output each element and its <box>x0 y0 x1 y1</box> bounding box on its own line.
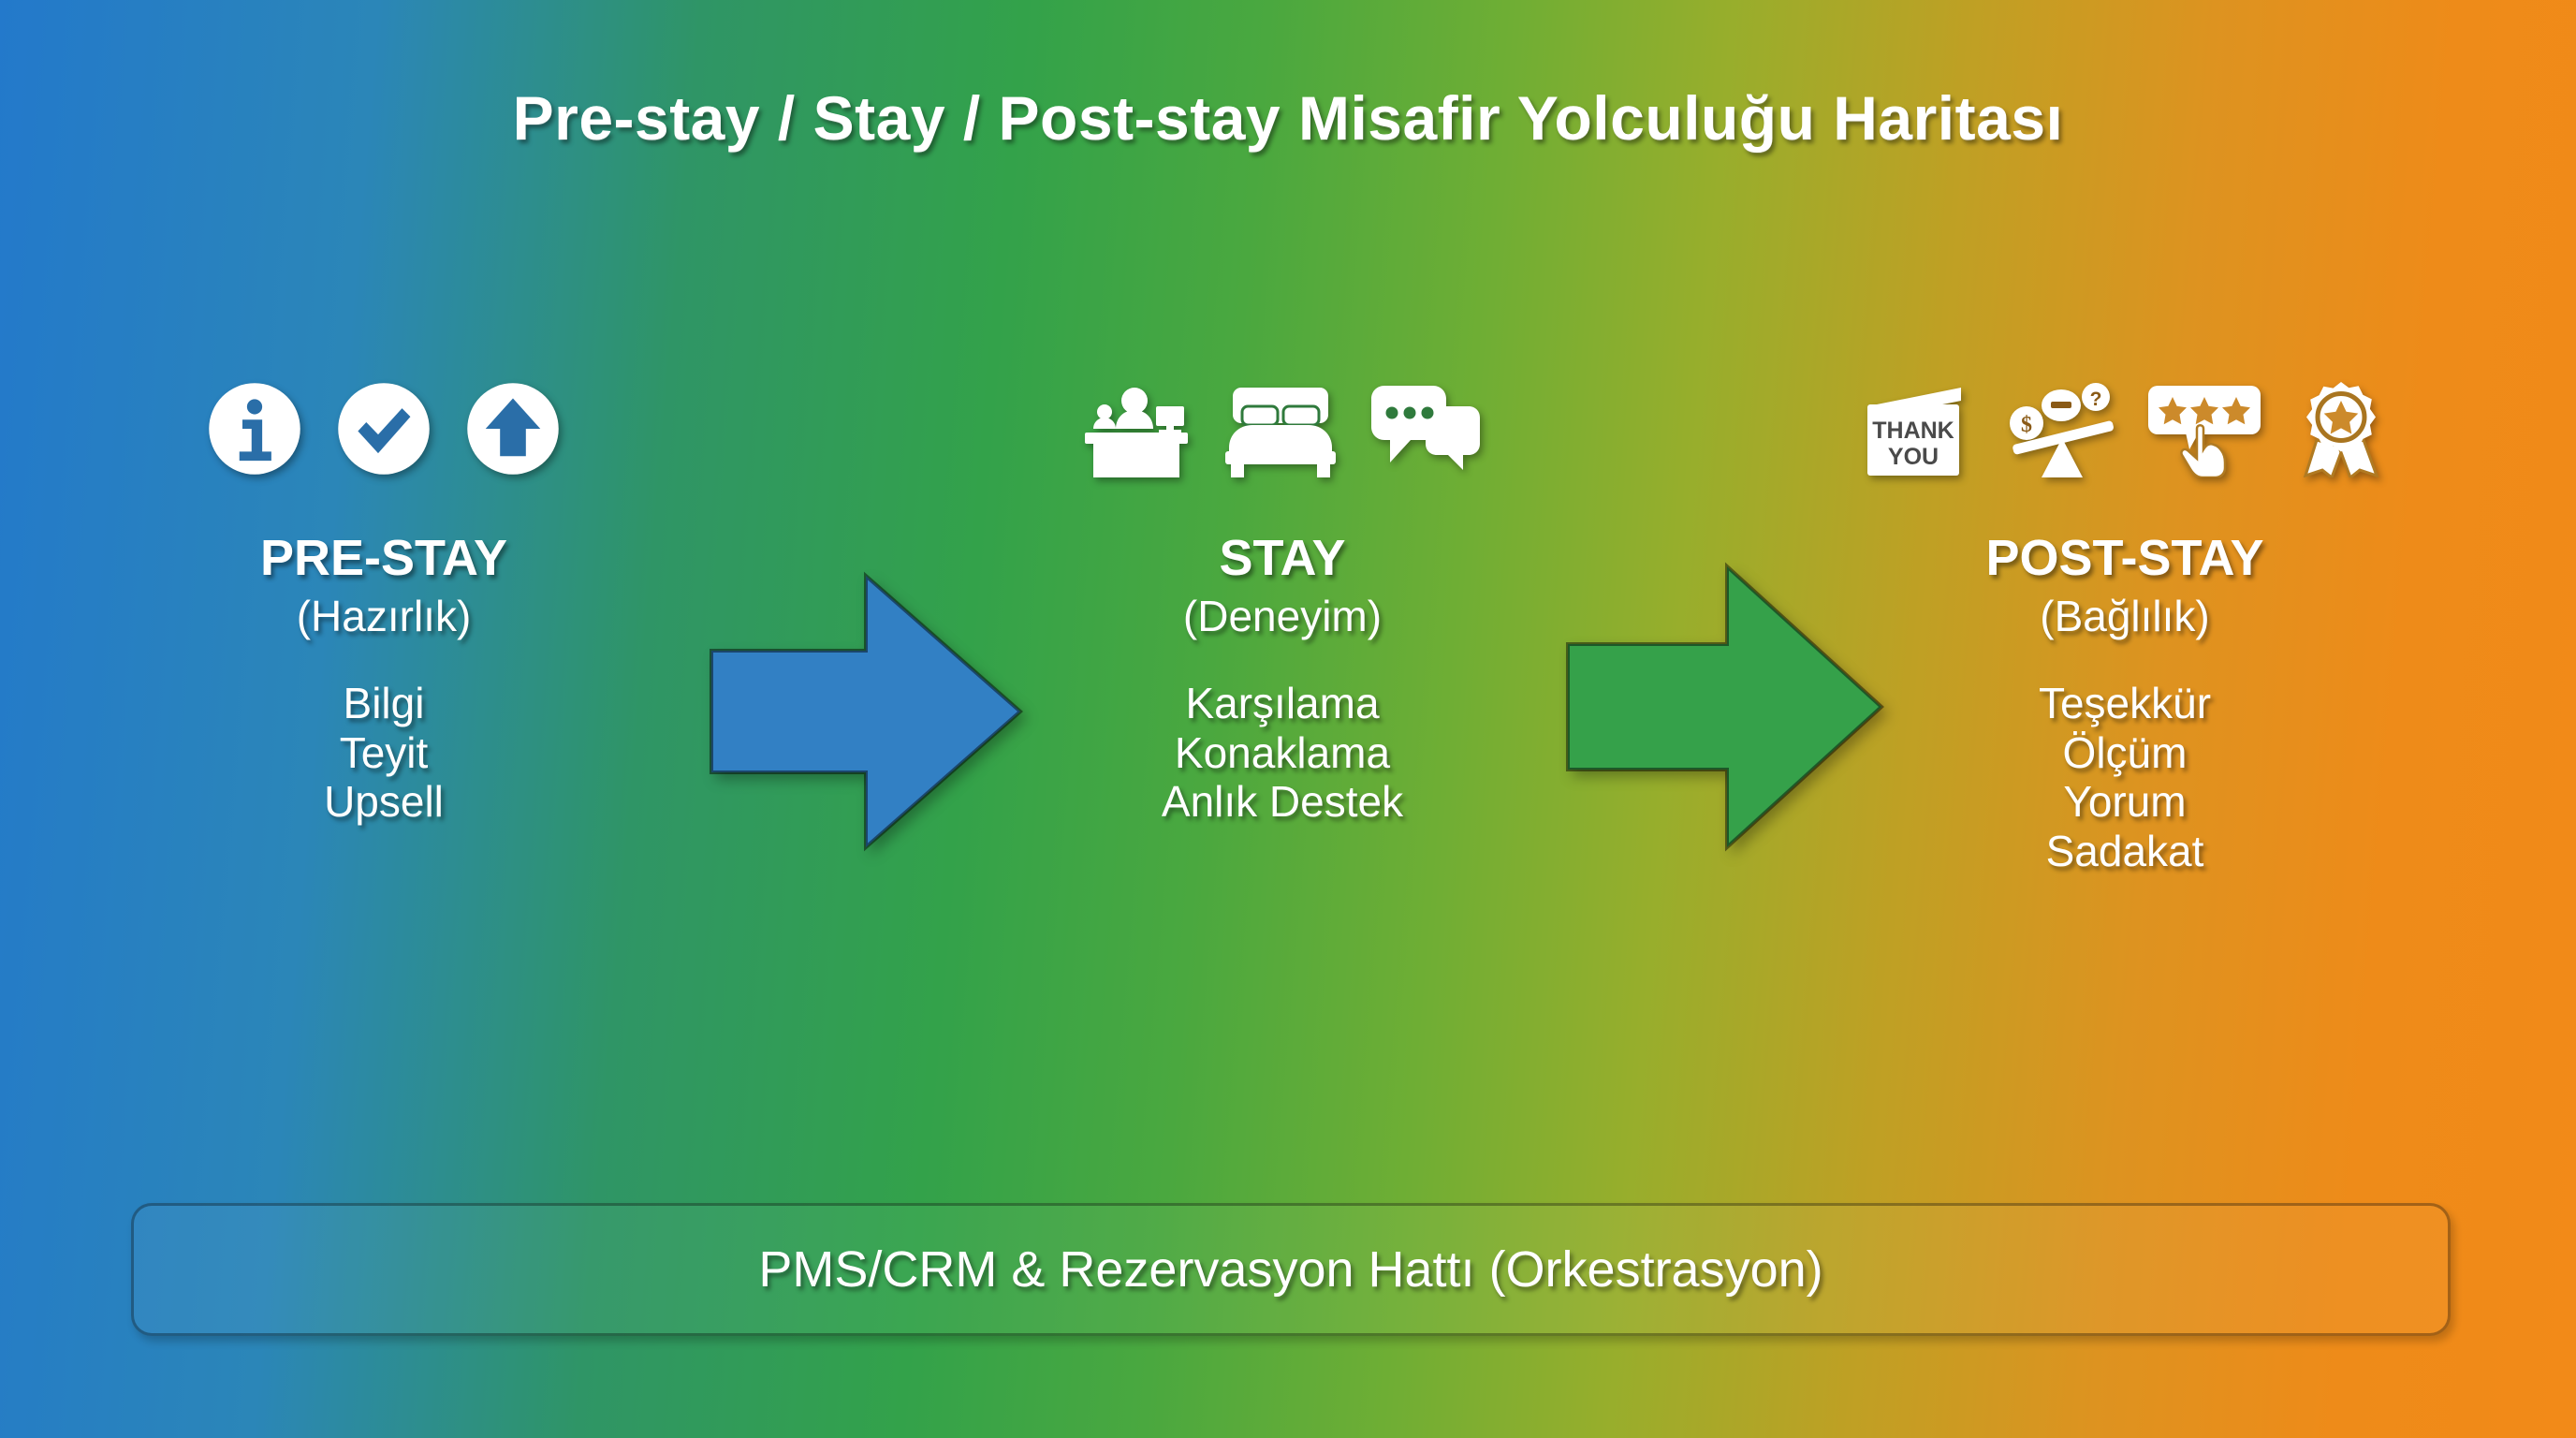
phase-subtitle-stay: (Deneyim) <box>1002 593 1563 640</box>
list-item: Teyit <box>112 728 655 777</box>
star-rating-click-icon <box>2144 380 2264 477</box>
check-circle-icon <box>335 380 432 477</box>
phase-title-post-stay: POST-STAY <box>1807 532 2443 585</box>
infographic-canvas: Pre-stay / Stay / Post-stay Misafir Yolc… <box>0 0 2576 1438</box>
award-badge-icon <box>2289 380 2393 477</box>
phase-list-stay: Karşılama Konaklama Anlık Destek <box>1002 679 1563 826</box>
list-item: Karşılama <box>1002 679 1563 727</box>
orchestration-band: PMS/CRM & Rezervasyon Hattı (Orkestrasyo… <box>131 1203 2451 1336</box>
phase-column-stay: STAY (Deneyim) Karşılama Konaklama Anlık… <box>1002 346 1563 827</box>
balance-scale-icon: $ ? <box>2004 380 2120 477</box>
reception-desk-icon <box>1081 380 1192 477</box>
orchestration-band-label: PMS/CRM & Rezervasyon Hattı (Orkestrasyo… <box>758 1240 1822 1299</box>
chat-bubbles-icon <box>1369 380 1484 477</box>
phase-title-pre-stay: PRE-STAY <box>112 532 655 585</box>
list-item: Teşekkür <box>1807 679 2443 727</box>
phase-list-pre-stay: Bilgi Teyit Upsell <box>112 679 655 826</box>
arrow-pre-to-stay <box>707 571 1025 857</box>
page-title: Pre-stay / Stay / Post-stay Misafir Yolc… <box>0 82 2576 154</box>
list-item: Bilgi <box>112 679 655 727</box>
list-item: Anlık Destek <box>1002 777 1563 826</box>
arrow-up-circle-icon <box>464 380 562 477</box>
thank-you-card-line1: THANK <box>1872 418 1954 444</box>
phase-subtitle-post-stay: (Bağlılık) <box>1807 593 2443 640</box>
phase-subtitle-pre-stay: (Hazırlık) <box>112 593 655 640</box>
phase-icons-stay <box>1002 346 1563 477</box>
svg-text:?: ? <box>2090 389 2102 410</box>
list-item: Upsell <box>112 777 655 826</box>
list-item: Ölçüm <box>1807 728 2443 777</box>
phase-title-stay: STAY <box>1002 532 1563 585</box>
list-item: Konaklama <box>1002 728 1563 777</box>
phase-list-post-stay: Teşekkür Ölçüm Yorum Sadakat <box>1807 679 2443 875</box>
list-item: Sadakat <box>1807 827 2443 875</box>
bed-icon <box>1223 380 1338 477</box>
phase-column-post-stay: THANK YOU $ ? <box>1807 346 2443 875</box>
thank-you-card-line2: YOU <box>1888 444 1939 470</box>
list-item: Yorum <box>1807 777 2443 826</box>
phase-icons-pre-stay <box>112 346 655 477</box>
info-circle-icon <box>206 380 303 477</box>
phase-icons-post-stay: THANK YOU $ ? <box>1807 346 2443 477</box>
svg-text:$: $ <box>2021 413 2032 437</box>
phase-column-pre-stay: PRE-STAY (Hazırlık) Bilgi Teyit Upsell <box>112 346 655 827</box>
thank-you-card-icon: THANK YOU <box>1856 380 1980 477</box>
